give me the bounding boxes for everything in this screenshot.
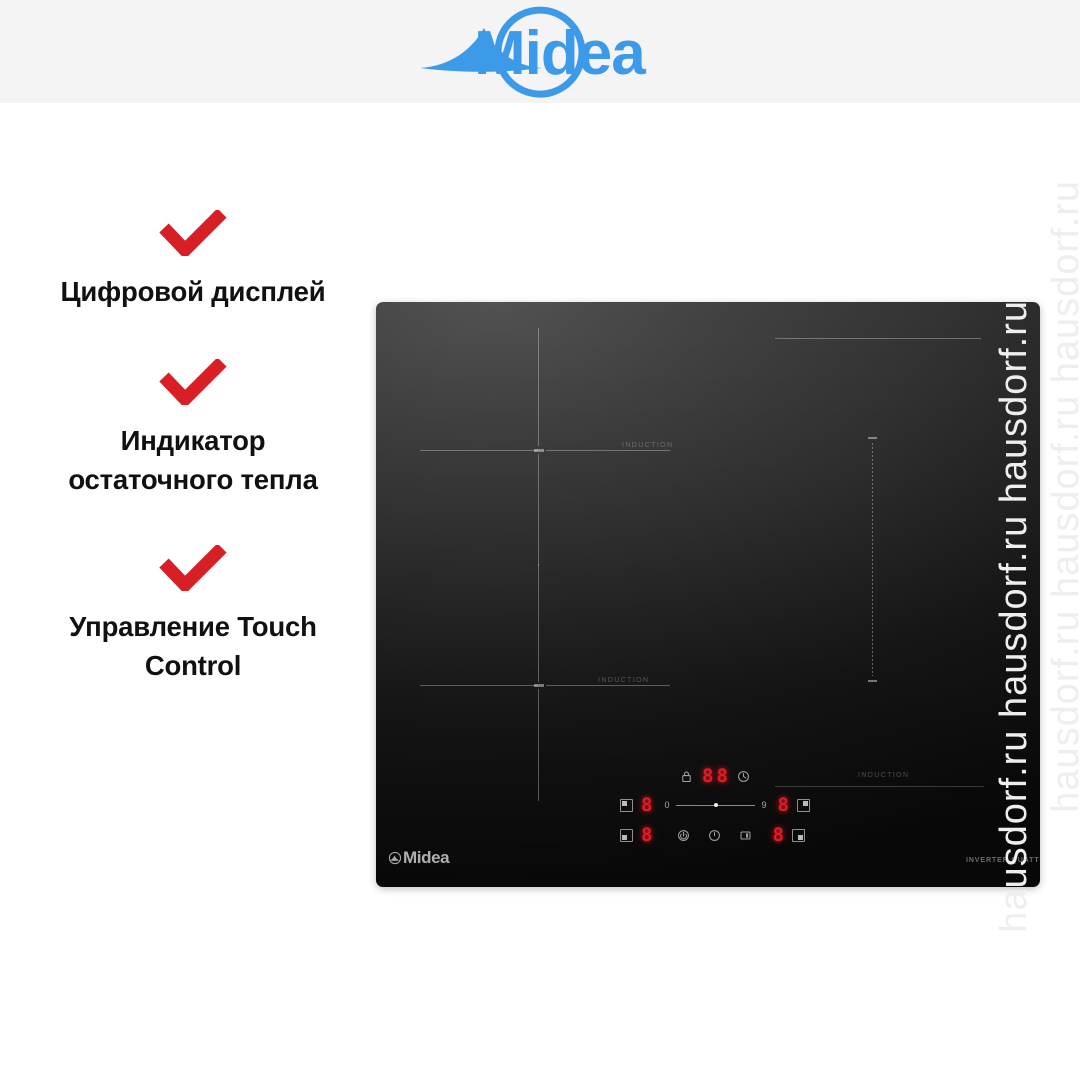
zone-front-left-level: 8 bbox=[641, 826, 652, 845]
timer-digit-ones: 8 bbox=[717, 767, 728, 786]
check-icon bbox=[158, 210, 228, 256]
feature-label: Индикатор остаточного тепла bbox=[28, 421, 358, 499]
power-icon[interactable] bbox=[677, 829, 690, 842]
zone-front-right-level: 8 bbox=[772, 826, 783, 845]
slider-max-label: 9 bbox=[762, 800, 767, 810]
control-slider-row[interactable]: 8 0 9 8 bbox=[620, 792, 810, 818]
midea-logo: Midea bbox=[0, 0, 1080, 103]
feature-list: Цифровой дисплей Индикатор остаточного т… bbox=[28, 210, 358, 713]
slider-min-label: 0 bbox=[664, 800, 669, 810]
feature-item-touch-control: Управление Touch Control bbox=[28, 545, 358, 685]
touch-control-panel[interactable]: 8 8 8 0 9 8 8 bbox=[620, 764, 810, 850]
clock-icon[interactable] bbox=[737, 770, 750, 783]
slider-knob[interactable] bbox=[714, 803, 718, 807]
check-icon bbox=[158, 359, 228, 405]
feature-item-digital-display: Цифровой дисплей bbox=[28, 210, 358, 311]
check-icon bbox=[158, 545, 228, 591]
lock-icon[interactable] bbox=[680, 770, 693, 783]
header-band: Midea bbox=[0, 0, 1080, 103]
feature-item-residual-heat: Индикатор остаточного тепла bbox=[28, 359, 358, 499]
zone-front-right-key[interactable] bbox=[792, 829, 805, 842]
zone-rear-right-key[interactable] bbox=[797, 799, 810, 812]
pause-icon[interactable] bbox=[739, 829, 752, 842]
control-buttons-row[interactable]: 8 8 bbox=[620, 822, 810, 848]
feature-label: Цифровой дисплей bbox=[28, 272, 358, 311]
timer-icon[interactable] bbox=[708, 829, 721, 842]
zone-rear-left-key[interactable] bbox=[620, 799, 633, 812]
timer-digit-tens: 8 bbox=[702, 767, 713, 786]
zone-rear-left-level: 8 bbox=[641, 796, 652, 815]
midea-logo-svg: Midea bbox=[410, 6, 670, 98]
brand-wordmark: Midea bbox=[474, 19, 646, 88]
feature-label: Управление Touch Control bbox=[28, 607, 358, 685]
watermark-text: hausdorf.ru hausdorf.ru hausdorf.ru bbox=[1045, 180, 1080, 813]
control-status-row: 8 8 bbox=[620, 764, 810, 788]
zone-rear-right-level: 8 bbox=[778, 796, 789, 815]
zone-front-left-key[interactable] bbox=[620, 829, 633, 842]
timer-display: 8 8 bbox=[702, 767, 728, 786]
power-slider[interactable] bbox=[676, 798, 754, 812]
